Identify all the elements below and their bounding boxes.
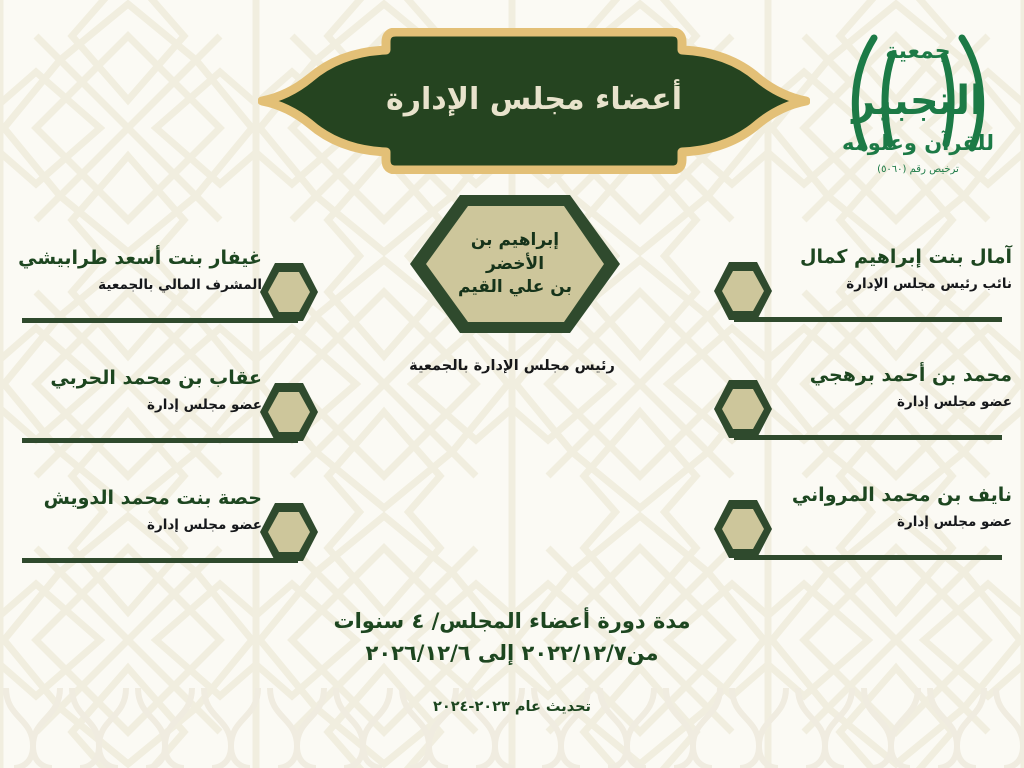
member-card-left-3: حصة بنت محمد الدويش عضو مجلس إدارة [8, 485, 328, 581]
hexagon-icon [712, 378, 774, 440]
hexagon-icon [258, 501, 320, 563]
connector-line [22, 558, 298, 563]
member-role: عضو مجلس إدارة [770, 394, 1012, 410]
member-name: آمال بنت إبراهيم كمال [770, 246, 1012, 270]
member-name: عقاب بن محمد الحربي [12, 367, 262, 391]
member-card-right-3: نايف بن محمد المرواني عضو مجلس إدارة [704, 482, 1016, 578]
member-role: عضو مجلس إدارة [770, 514, 1012, 530]
member-card-left-1: غيفار بنت أسعد طرابيشي المشرف المالي بال… [8, 245, 328, 341]
connector-line [22, 438, 298, 443]
association-logo: جمعية التجبير للقرآن وعلومه ترخيص رقم (٥… [830, 16, 1006, 186]
logo-line2: التجبير [850, 78, 983, 124]
logo-line1: جمعية [885, 39, 950, 64]
connector-line [22, 318, 298, 323]
footer-update-line: تحديث عام ٢٠٢٣-٢٠٢٤ [0, 699, 1024, 715]
member-text: غيفار بنت أسعد طرابيشي المشرف المالي بال… [12, 247, 262, 293]
member-role: المشرف المالي بالجمعية [12, 277, 262, 293]
hexagon-icon [712, 498, 774, 560]
member-text: محمد بن أحمد برهجي عضو مجلس إدارة [770, 364, 1012, 410]
chairman-name-line-3: بن علي القيم [458, 276, 572, 298]
hexagon-icon [712, 260, 774, 322]
member-card-right-2: محمد بن أحمد برهجي عضو مجلس إدارة [704, 362, 1016, 458]
member-name: حصة بنت محمد الدويش [12, 487, 262, 511]
hexagon-icon [258, 261, 320, 323]
member-role: عضو مجلس إدارة [12, 397, 262, 413]
chairman-node: إبراهيم بن الأخضر بن علي القيم [408, 193, 622, 335]
logo-license: ترخيص رقم (٥٠٦٠) [877, 164, 959, 175]
logo-line3: للقرآن وعلومه [842, 130, 994, 155]
footer: مدة دورة أعضاء المجلس/ ٤ سنوات من٢٠٢٢/١٢… [0, 606, 1024, 715]
connector-line [734, 555, 1002, 560]
chairman-name-line-2: الأخضر [486, 253, 544, 275]
member-text: حصة بنت محمد الدويش عضو مجلس إدارة [12, 487, 262, 533]
connector-line [734, 317, 1002, 322]
member-name: نايف بن محمد المرواني [770, 484, 1012, 508]
member-card-left-2: عقاب بن محمد الحربي عضو مجلس إدارة [8, 365, 328, 461]
member-card-right-1: آمال بنت إبراهيم كمال نائب رئيس مجلس الإ… [704, 244, 1016, 340]
member-role: نائب رئيس مجلس الإدارة [770, 276, 1012, 292]
connector-line [734, 435, 1002, 440]
footer-term-line: مدة دورة أعضاء المجلس/ ٤ سنوات [0, 606, 1024, 638]
member-name: محمد بن أحمد برهجي [770, 364, 1012, 388]
member-role: عضو مجلس إدارة [12, 517, 262, 533]
member-text: عقاب بن محمد الحربي عضو مجلس إدارة [12, 367, 262, 413]
hexagon-icon [258, 381, 320, 443]
member-name: غيفار بنت أسعد طرابيشي [12, 247, 262, 271]
page-title-banner: أعضاء مجلس الإدارة [258, 28, 810, 174]
chairman-name-line-1: إبراهيم بن [471, 229, 559, 251]
member-text: آمال بنت إبراهيم كمال نائب رئيس مجلس الإ… [770, 246, 1012, 292]
footer-dates-line: من٢٠٢٢/١٢/٧ إلى ٢٠٢٦/١٢/٦ [0, 638, 1024, 670]
member-text: نايف بن محمد المرواني عضو مجلس إدارة [770, 484, 1012, 530]
chairman-name: إبراهيم بن الأخضر بن علي القيم [408, 193, 622, 335]
page-title: أعضاء مجلس الإدارة [258, 28, 810, 174]
